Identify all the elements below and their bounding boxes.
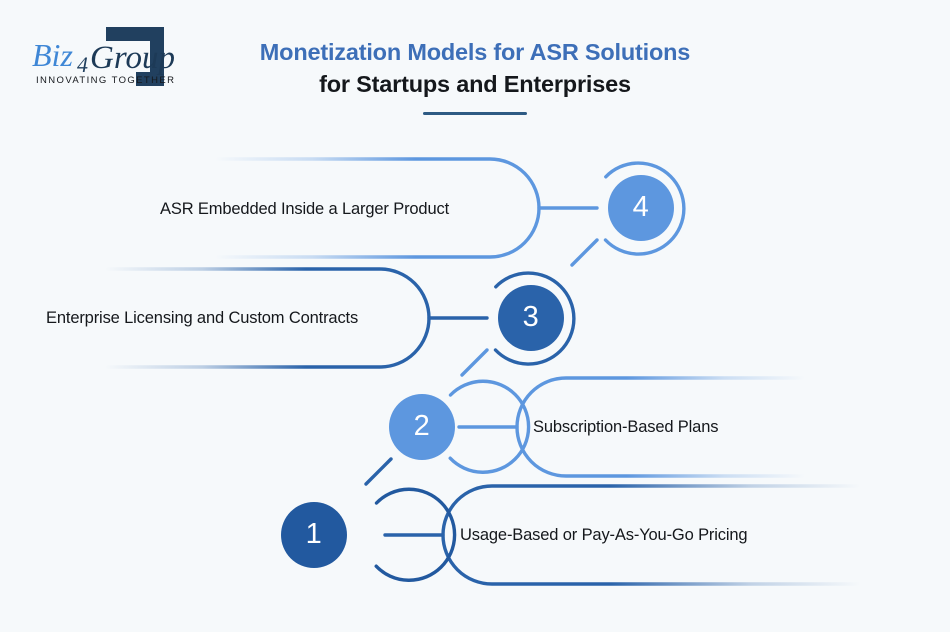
connector-3-to-4 bbox=[572, 240, 597, 265]
number-text-4: 4 bbox=[611, 193, 671, 222]
connector-2-to-3 bbox=[462, 350, 487, 375]
number-text-3: 3 bbox=[501, 303, 561, 332]
infographic-canvas: Biz 4 Group INNOVATING TOGETHER Monetiza… bbox=[0, 0, 950, 632]
number-text-2: 2 bbox=[392, 412, 452, 441]
item-label-3: Enterprise Licensing and Custom Contract… bbox=[46, 310, 358, 327]
chain-diagram: 4 3 2 1 ASR Embedded Inside a Larger Pro… bbox=[0, 0, 950, 632]
connector-1-to-2 bbox=[366, 459, 391, 484]
item-label-4: ASR Embedded Inside a Larger Product bbox=[160, 201, 449, 218]
item-label-2: Subscription-Based Plans bbox=[533, 419, 718, 436]
number-text-1: 1 bbox=[284, 520, 344, 549]
item-label-1: Usage-Based or Pay-As-You-Go Pricing bbox=[460, 527, 747, 544]
